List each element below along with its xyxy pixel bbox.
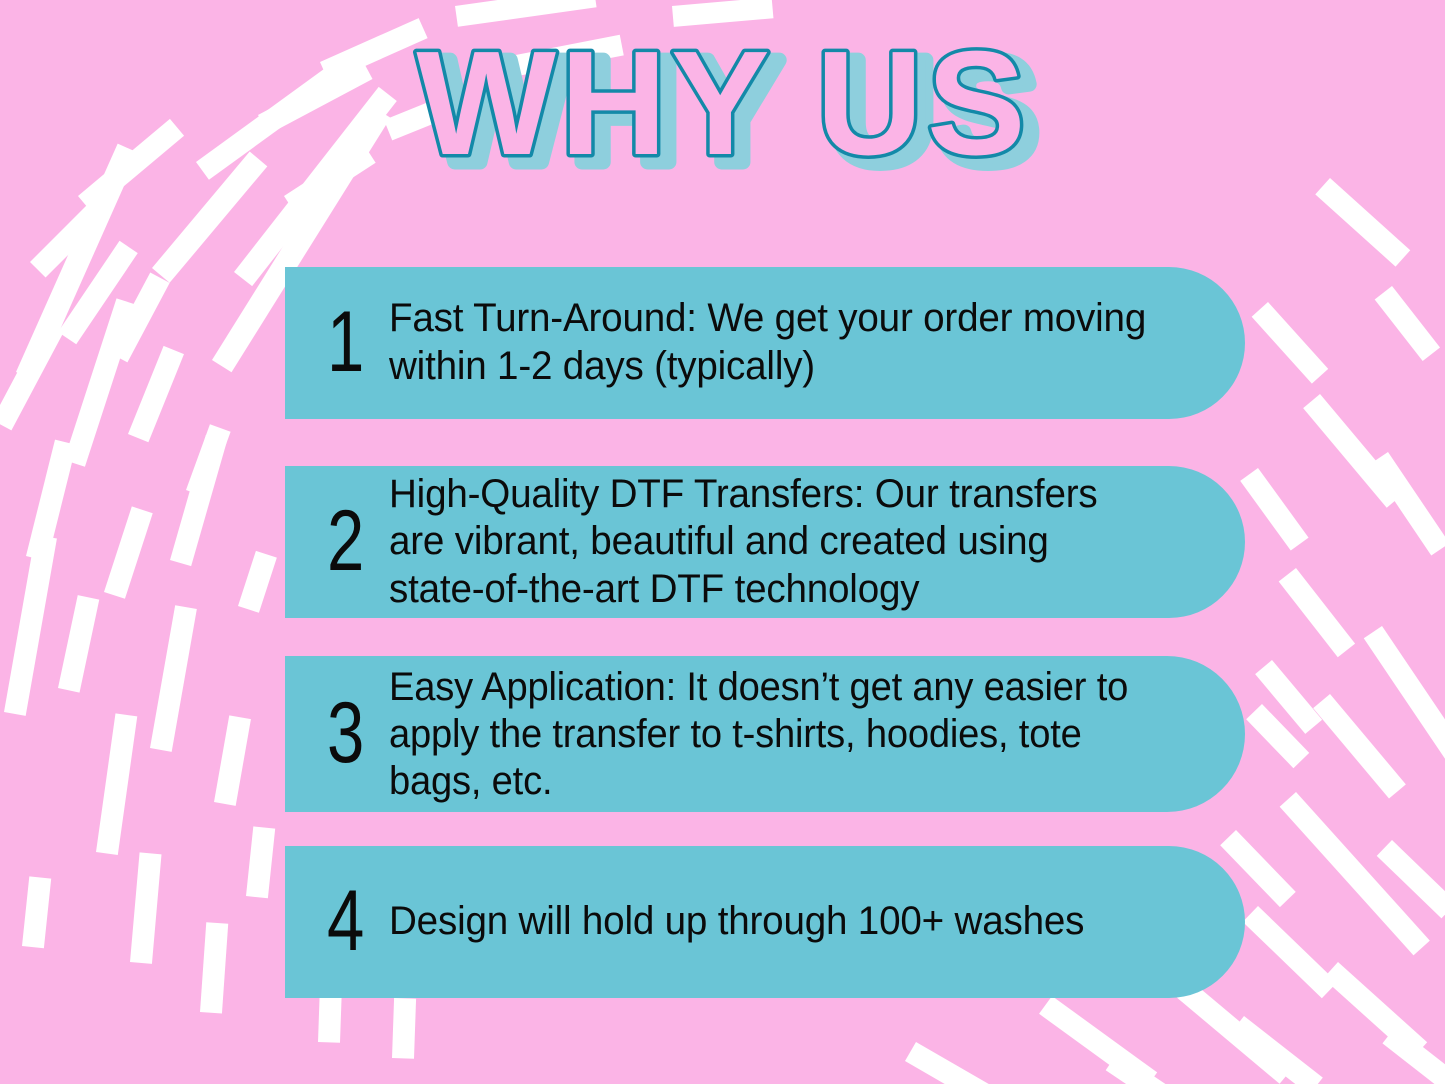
list-item-number: 2 [327,502,375,581]
list-item-number: 1 [327,303,375,382]
list-item-text: High-Quality DTF Transfers: Our transfer… [389,471,1153,614]
list-item: 4 Design will hold up through 100+ washe… [285,846,1245,998]
list-item: 1 Fast Turn-Around: We get your order mo… [285,267,1245,419]
list-item-number: 3 [327,694,375,773]
list-item-number: 4 [327,882,375,961]
list-item: 3 Easy Application: It doesn’t get any e… [285,656,1245,812]
list-item-text: Fast Turn-Around: We get your order movi… [389,295,1153,390]
list-item: 2 High-Quality DTF Transfers: Our transf… [285,466,1245,618]
poster-title: WHY US [416,21,1029,186]
poster-title-wrapper: WHY US WHY US WHY US [0,36,1445,196]
benefits-list: 1 Fast Turn-Around: We get your order mo… [285,267,1245,998]
list-item-text: Easy Application: It doesn’t get any eas… [389,664,1153,805]
why-us-poster: WHY US WHY US WHY US 1 Fast Turn-Around:… [0,0,1445,1084]
list-item-text: Design will hold up through 100+ washes [389,898,1153,946]
